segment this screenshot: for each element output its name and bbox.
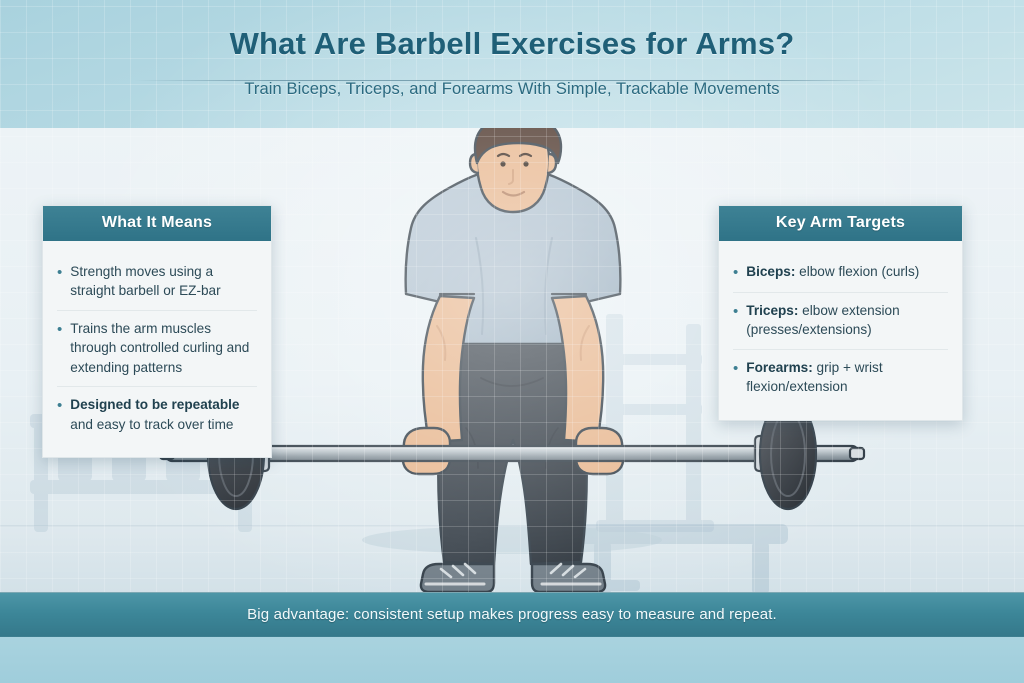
bullet-icon: • xyxy=(57,262,62,301)
bullet-icon: • xyxy=(57,395,62,434)
bullet-icon: • xyxy=(733,301,738,340)
title-divider xyxy=(135,80,889,81)
infographic-canvas: What Are Barbell Exercises for Arms? Tra… xyxy=(0,0,1024,683)
list-item-text: Designed to be repeatable and easy to tr… xyxy=(70,395,257,434)
bullet-icon: • xyxy=(733,262,738,283)
list-item-text: Trains the arm muscles through controlle… xyxy=(70,319,257,377)
list-item: • Biceps: elbow flexion (curls) xyxy=(733,254,948,292)
panel-left-heading: What It Means xyxy=(43,206,271,241)
list-item-text: Forearms: grip + wrist flexion/extension xyxy=(746,358,948,397)
list-item-text: Strength moves using a straight barbell … xyxy=(70,262,257,301)
panel-what-it-means: What It Means • Strength moves using a s… xyxy=(42,205,272,458)
list-item-text: Triceps: elbow extension (presses/extens… xyxy=(746,301,948,340)
right-shoe xyxy=(532,564,605,592)
list-item-lead: Forearms: xyxy=(746,360,812,375)
list-item-lead: Triceps: xyxy=(746,303,798,318)
header: What Are Barbell Exercises for Arms? Tra… xyxy=(0,0,1024,130)
list-item-text: Biceps: elbow flexion (curls) xyxy=(746,262,919,283)
panel-left-body: • Strength moves using a straight barbel… xyxy=(43,241,271,457)
list-item: • Strength moves using a straight barbel… xyxy=(57,254,257,310)
panel-right-heading: Key Arm Targets xyxy=(719,206,962,241)
footer-strip xyxy=(0,637,1024,683)
panel-key-arm-targets: Key Arm Targets • Biceps: elbow flexion … xyxy=(718,205,963,421)
bottom-banner: Big advantage: consistent setup makes pr… xyxy=(0,592,1024,637)
bullet-icon: • xyxy=(733,358,738,397)
list-item-lead: Biceps: xyxy=(746,264,795,279)
list-item-lead: Designed to be repeatable xyxy=(70,397,239,412)
panel-right-body: • Biceps: elbow flexion (curls) • Tricep… xyxy=(719,241,962,420)
bottom-banner-text: Big advantage: consistent setup makes pr… xyxy=(247,606,777,623)
list-item: • Trains the arm muscles through control… xyxy=(57,310,257,386)
page-subtitle: Train Biceps, Triceps, and Forearms With… xyxy=(0,80,1024,99)
list-item: • Designed to be repeatable and easy to … xyxy=(57,386,257,443)
list-item: • Forearms: grip + wrist flexion/extensi… xyxy=(733,349,948,406)
page-title: What Are Barbell Exercises for Arms? xyxy=(0,26,1024,62)
left-shoe xyxy=(421,564,494,592)
bullet-icon: • xyxy=(57,319,62,377)
list-item: • Triceps: elbow extension (presses/exte… xyxy=(733,292,948,349)
